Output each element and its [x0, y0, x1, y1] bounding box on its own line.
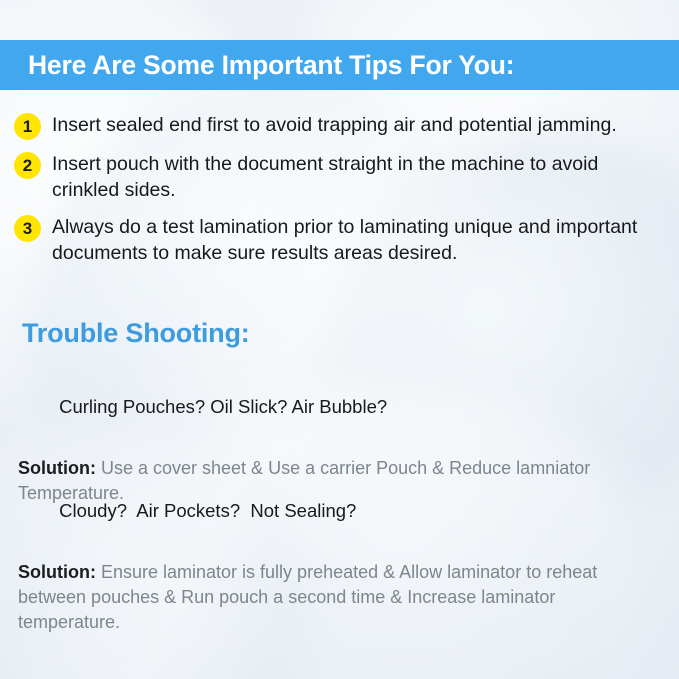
highlight-underline-2	[18, 541, 442, 547]
solution-label-2: Solution:	[18, 562, 96, 582]
troubleshooting-question-1: Curling Pouches? Oil Slick? Air Bubble?	[18, 374, 387, 442]
solution-label-1: Solution:	[18, 458, 96, 478]
troubleshooting-entry-2: Cloudy? Air Pockets? Not Sealing? Soluti…	[18, 478, 663, 635]
infographic-page: Here Are Some Important Tips For You: 1 …	[0, 0, 679, 679]
content-layer: Here Are Some Important Tips For You: 1 …	[0, 0, 679, 679]
tip-number-badge-2: 2	[14, 152, 41, 179]
question-text-1: Curling Pouches? Oil Slick? Air Bubble?	[59, 396, 387, 417]
list-item: 2 Insert pouch with the document straigh…	[14, 151, 664, 203]
page-title: Here Are Some Important Tips For You:	[28, 50, 514, 81]
list-item: 1 Insert sealed end first to avoid trapp…	[14, 112, 664, 140]
troubleshooting-heading: Trouble Shooting:	[22, 318, 250, 349]
highlight-underline-1	[18, 437, 442, 443]
solution-text-2: Ensure laminator is fully preheated & Al…	[18, 562, 597, 632]
tip-text-1: Insert sealed end first to avoid trappin…	[52, 112, 617, 138]
troubleshooting-answer-2: Solution: Ensure laminator is fully preh…	[18, 560, 638, 635]
tip-number-badge-3: 3	[14, 215, 41, 242]
tip-text-3: Always do a test lamination prior to lam…	[52, 214, 652, 266]
header-banner: Here Are Some Important Tips For You:	[0, 40, 679, 90]
tip-number-badge-1: 1	[14, 113, 41, 140]
tips-list: 1 Insert sealed end first to avoid trapp…	[14, 112, 664, 277]
list-item: 3 Always do a test lamination prior to l…	[14, 214, 664, 266]
tip-text-2: Insert pouch with the document straight …	[52, 151, 652, 203]
troubleshooting-question-2: Cloudy? Air Pockets? Not Sealing?	[18, 478, 356, 546]
question-text-2: Cloudy? Air Pockets? Not Sealing?	[59, 500, 356, 521]
